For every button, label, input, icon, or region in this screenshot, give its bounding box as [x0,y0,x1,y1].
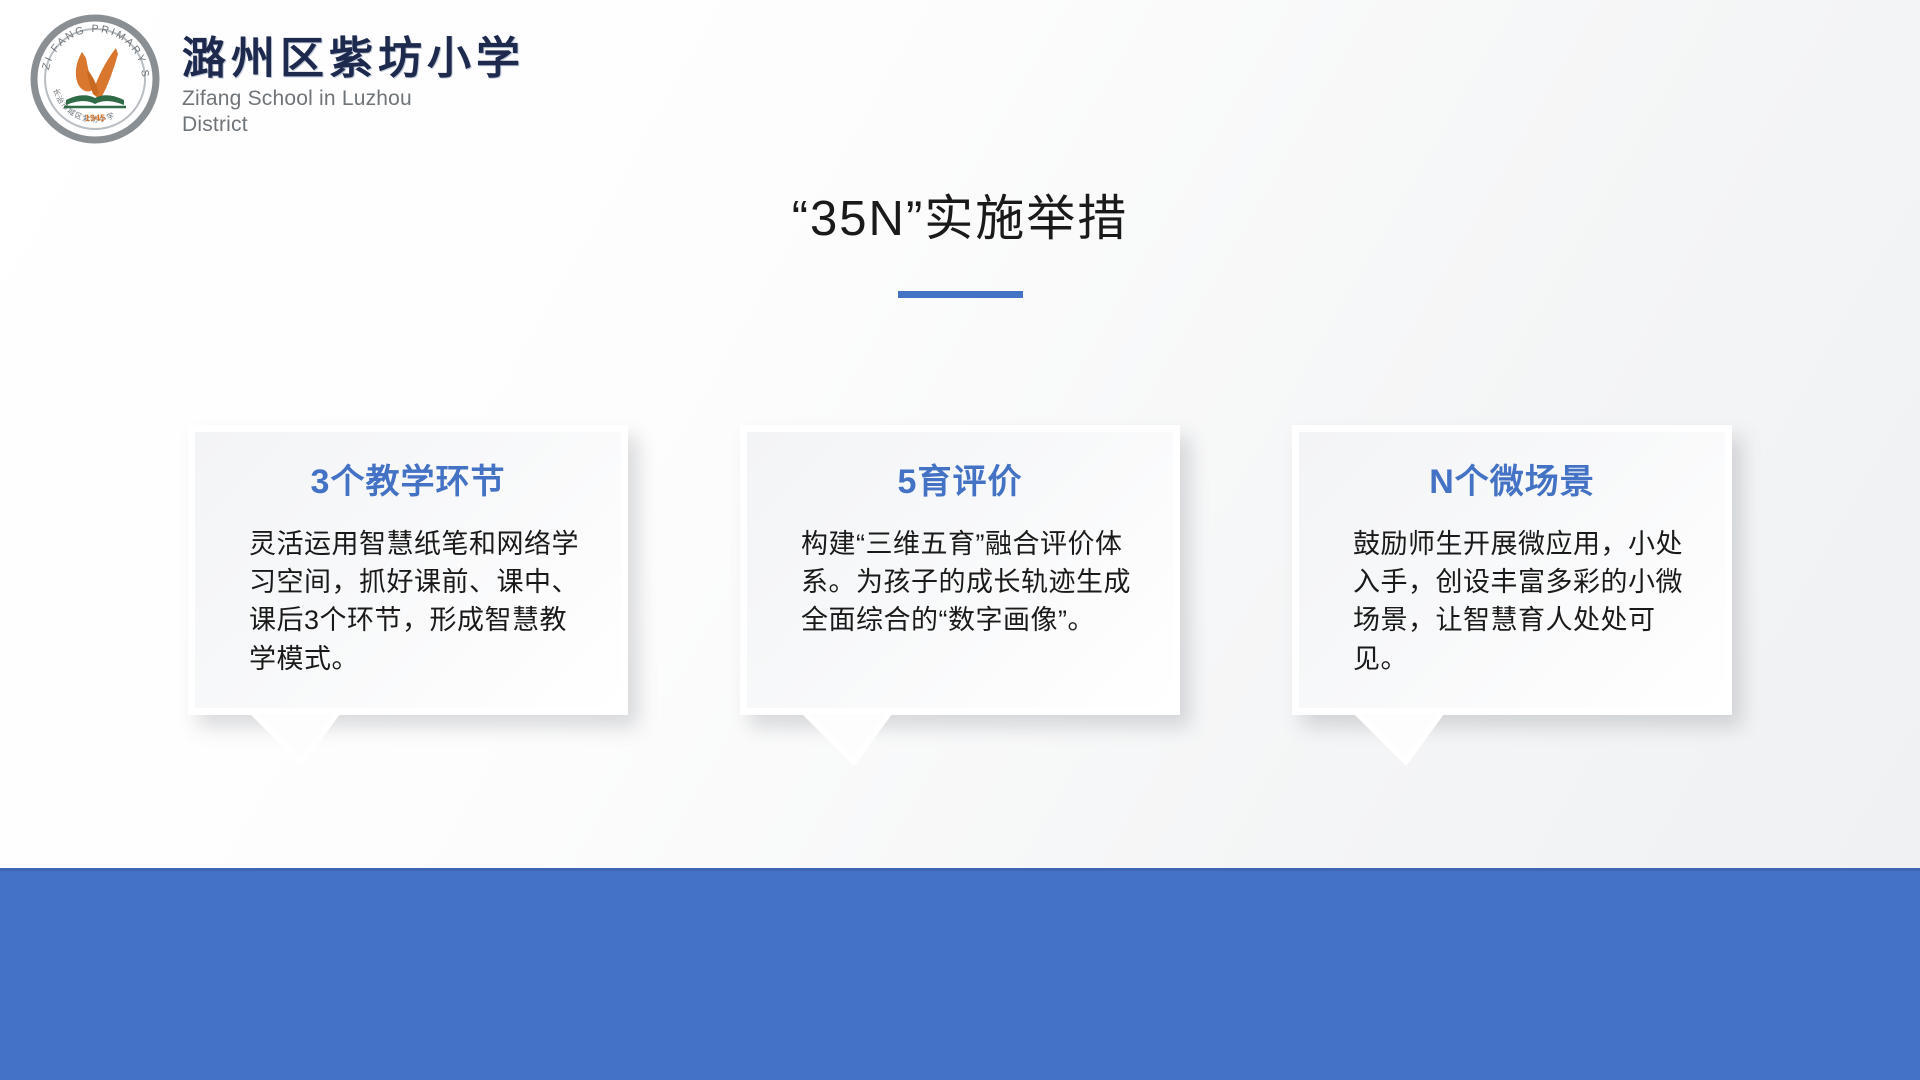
card-surface: N个微场景 鼓励师生开展微应用，小处入手，创设丰富多彩的小微场景，让智慧育人处处… [1292,425,1732,715]
school-name-cn: 潞州区紫坊小学 [182,36,525,82]
title-block: “35N”实施举措 [0,190,1920,298]
page-title: “35N”实施举措 [0,190,1920,249]
card-title: 5育评价 [775,462,1145,503]
footer-band [0,868,1920,1080]
measures-card-row: 3个教学环节 灵活运用智慧纸笔和网络学习空间，抓好课前、课中、课后3个环节，形成… [0,425,1920,715]
card-tail-pointer [1354,714,1444,766]
slide-canvas: ZI FANG PRIMARY SCHOOL 长治市城区紫坊小学 1945 潞州… [0,0,1920,1080]
svg-text:1945: 1945 [85,113,105,123]
card-tail-pointer [250,714,340,766]
school-crest-icon: ZI FANG PRIMARY SCHOOL 长治市城区紫坊小学 1945 [30,14,160,144]
measure-card-1: 3个教学环节 灵活运用智慧纸笔和网络学习空间，抓好课前、课中、课后3个环节，形成… [188,425,628,715]
card-title: N个微场景 [1327,462,1697,503]
measure-card-3: N个微场景 鼓励师生开展微应用，小处入手，创设丰富多彩的小微场景，让智慧育人处处… [1292,425,1732,715]
school-name-en: Zifang School in Luzhou District [182,86,448,139]
card-surface: 5育评价 构建“三维五育”融合评价体系。为孩子的成长轨迹生成全面综合的“数字画像… [740,425,1180,715]
card-surface: 3个教学环节 灵活运用智慧纸笔和网络学习空间，抓好课前、课中、课后3个环节，形成… [188,425,628,715]
card-body-text: 构建“三维五育”融合评价体系。为孩子的成长轨迹生成全面综合的“数字画像”。 [775,525,1145,640]
school-name-block: 潞州区紫坊小学 Zifang School in Luzhou District [182,14,525,139]
card-tail-pointer [802,714,892,766]
measure-card-2: 5育评价 构建“三维五育”融合评价体系。为孩子的成长轨迹生成全面综合的“数字画像… [740,425,1180,715]
card-body-text: 鼓励师生开展微应用，小处入手，创设丰富多彩的小微场景，让智慧育人处处可见。 [1327,525,1697,678]
card-title: 3个教学环节 [223,462,593,503]
footer-band-top-line [0,868,1920,871]
card-body-text: 灵活运用智慧纸笔和网络学习空间，抓好课前、课中、课后3个环节，形成智慧教学模式。 [223,525,593,678]
title-underline-rule [898,291,1023,298]
school-logo-lockup: ZI FANG PRIMARY SCHOOL 长治市城区紫坊小学 1945 潞州… [30,14,525,144]
